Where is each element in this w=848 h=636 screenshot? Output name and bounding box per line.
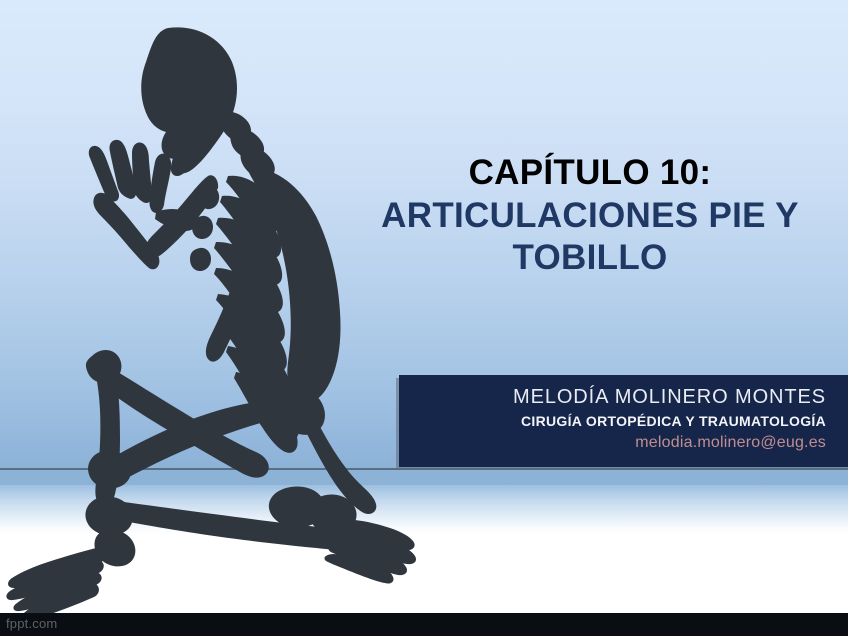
author-email[interactable]: melodia.molinero@eug.es (417, 431, 826, 455)
title-line-2: ARTICULACIONES PIE Y (340, 195, 840, 238)
author-name: MELODÍA MOLINERO MONTES (417, 385, 826, 411)
footer-bar: fppt.com (0, 613, 848, 636)
author-specialty: CIRUGÍA ORTOPÉDICA Y TRAUMATOLOGÍA (417, 411, 826, 431)
presentation-slide: CAPÍTULO 10: ARTICULACIONES PIE Y TOBILL… (0, 0, 848, 636)
watermark-label: fppt.com (6, 616, 57, 631)
slide-title: CAPÍTULO 10: ARTICULACIONES PIE Y TOBILL… (340, 152, 840, 280)
title-line-3: TOBILLO (340, 237, 840, 280)
title-line-1: CAPÍTULO 10: (340, 152, 840, 195)
skeleton-illustration (0, 0, 440, 620)
author-credit-box: MELODÍA MOLINERO MONTES CIRUGÍA ORTOPÉDI… (399, 375, 848, 467)
